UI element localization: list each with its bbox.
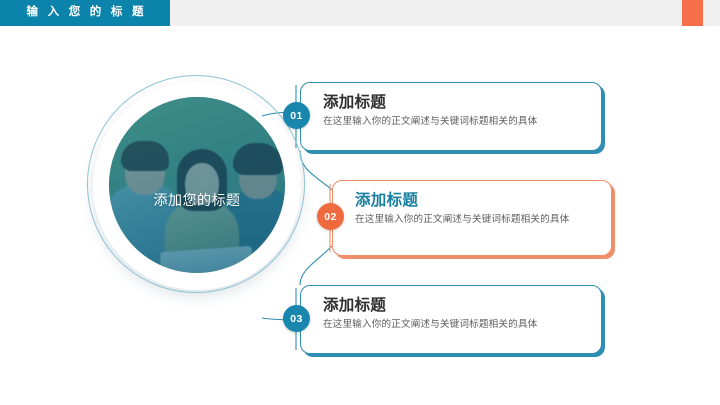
header-title-tab: 输 入 您 的 标 题 — [0, 0, 170, 26]
content-card-01[interactable]: 添加标题 在这里输入你的正文阐述与关键词标题相关的具体 — [300, 82, 602, 151]
step-badge-01[interactable]: 01 — [283, 102, 310, 129]
photo-tint-overlay — [109, 97, 285, 273]
content-card-02[interactable]: 添加标题 在这里输入你的正文阐述与关键词标题相关的具体 — [332, 180, 612, 256]
step-badge-02[interactable]: 02 — [317, 203, 344, 230]
card-03-body: 添加标题 在这里输入你的正文阐述与关键词标题相关的具体 — [323, 296, 591, 332]
card-01-body: 添加标题 在这里输入你的正文阐述与关键词标题相关的具体 — [323, 93, 591, 129]
content-card-03[interactable]: 添加标题 在这里输入你的正文阐述与关键词标题相关的具体 — [300, 285, 602, 354]
card-03-title: 添加标题 — [323, 296, 591, 315]
hero-circle-group: 添加您的标题 — [83, 70, 311, 300]
card-01-title: 添加标题 — [323, 93, 591, 112]
card-02-body: 添加标题 在这里输入你的正文阐述与关键词标题相关的具体 — [355, 191, 601, 227]
card-02-title: 添加标题 — [355, 191, 601, 210]
hero-photo: 添加您的标题 — [109, 97, 285, 273]
card-02-description: 在这里输入你的正文阐述与关键词标题相关的具体 — [355, 214, 601, 227]
card-03-description: 在这里输入你的正文阐述与关键词标题相关的具体 — [323, 319, 591, 332]
card-01-description: 在这里输入你的正文阐述与关键词标题相关的具体 — [323, 116, 591, 129]
slide-canvas: 输 入 您 的 标 题 添加您的标题 — [0, 0, 720, 405]
header-accent-block — [682, 0, 703, 26]
step-badge-03[interactable]: 03 — [283, 305, 310, 332]
page-title: 输 入 您 的 标 题 — [23, 7, 146, 19]
hero-caption: 添加您的标题 — [109, 190, 285, 210]
